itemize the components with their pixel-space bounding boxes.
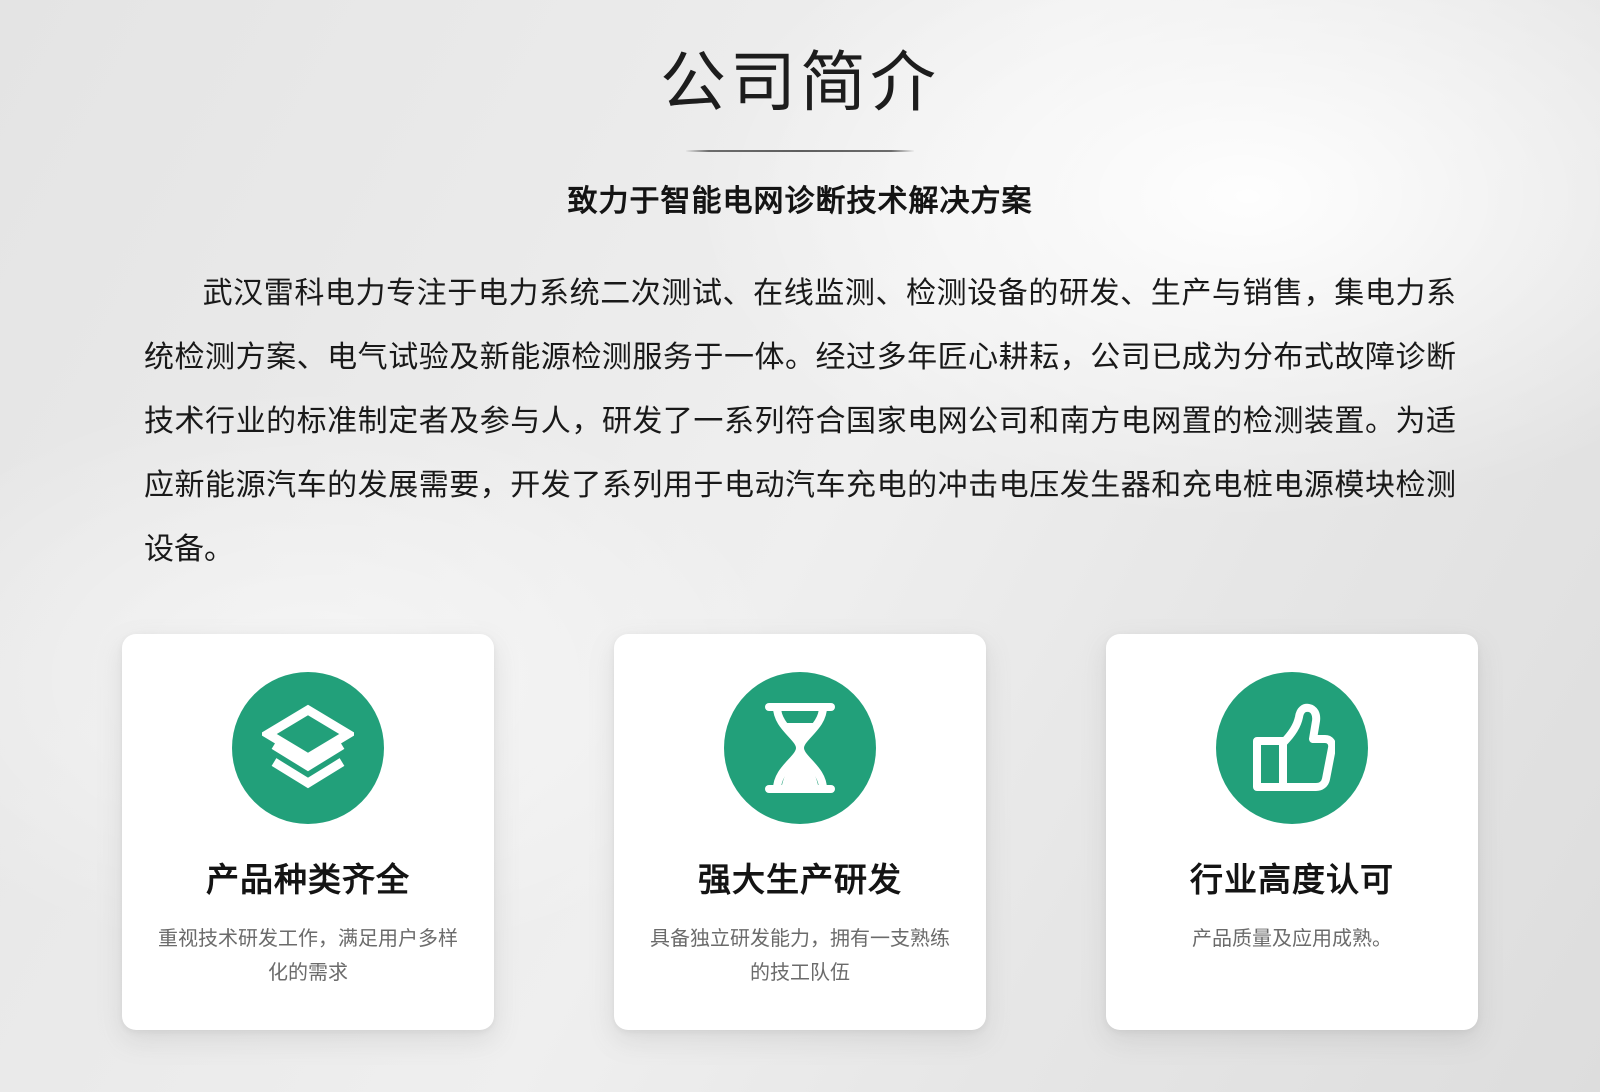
feature-card-description: 重视技术研发工作，满足用户多样化的需求 [158, 922, 458, 990]
title-divider [686, 150, 914, 152]
company-profile-page: 公司简介 致力于智能电网诊断技术解决方案 武汉雷科电力专注于电力系统二次测试、在… [0, 0, 1600, 1092]
feature-card-list: 产品种类齐全 重视技术研发工作，满足用户多样化的需求 强大生产研发 具备独立研发… [122, 634, 1478, 1030]
thumbs-up-icon [1216, 672, 1368, 824]
page-title: 公司简介 [0, 44, 1600, 122]
feature-card-description: 具备独立研发能力，拥有一支熟练的技工队伍 [650, 922, 950, 990]
intro-text: 武汉雷科电力专注于电力系统二次测试、在线监测、检测设备的研发、生产与销售，集电力… [144, 277, 1456, 566]
intro-paragraph: 武汉雷科电力专注于电力系统二次测试、在线监测、检测设备的研发、生产与销售，集电力… [144, 262, 1456, 582]
page-subtitle: 致力于智能电网诊断技术解决方案 [0, 176, 1600, 220]
feature-card[interactable]: 强大生产研发 具备独立研发能力，拥有一支熟练的技工队伍 [614, 634, 986, 1030]
feature-card[interactable]: 行业高度认可 产品质量及应用成熟。 [1106, 634, 1478, 1030]
feature-card-description: 产品质量及应用成熟。 [1142, 922, 1442, 956]
hourglass-icon [724, 672, 876, 824]
feature-card-title: 强大生产研发 [698, 860, 902, 900]
page-header: 公司简介 致力于智能电网诊断技术解决方案 [0, 0, 1600, 220]
feature-card-title: 行业高度认可 [1190, 860, 1394, 900]
feature-card-title: 产品种类齐全 [206, 860, 410, 900]
feature-card[interactable]: 产品种类齐全 重视技术研发工作，满足用户多样化的需求 [122, 634, 494, 1030]
layers-icon [232, 672, 384, 824]
